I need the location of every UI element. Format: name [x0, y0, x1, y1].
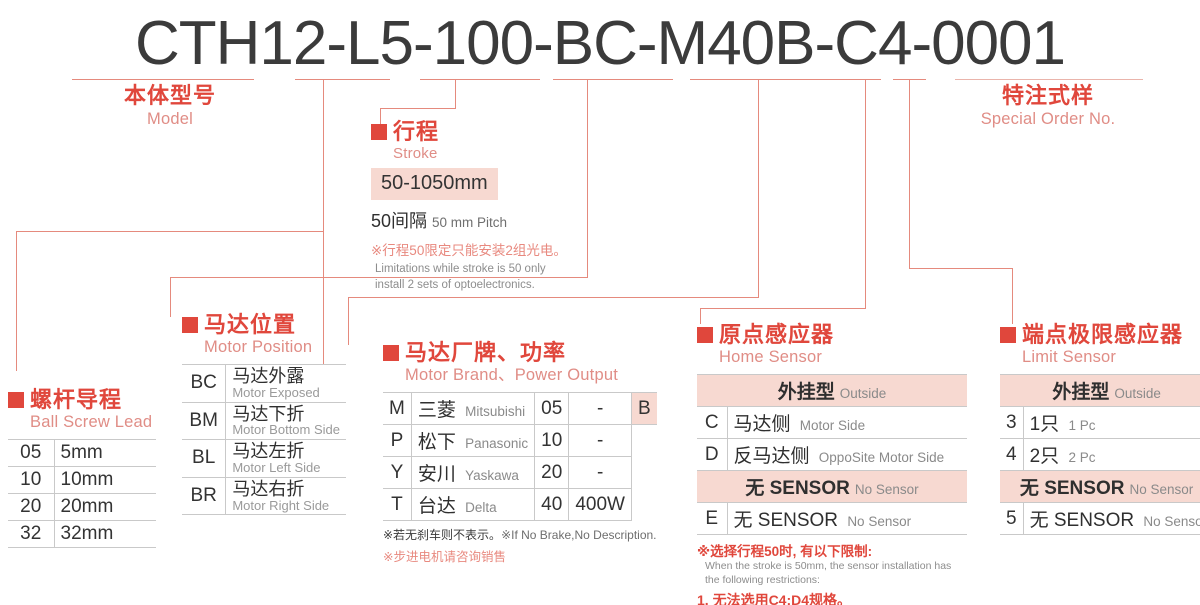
bullet-square-icon [182, 317, 198, 333]
motor-brand-heading: 马达厂牌、功率 [383, 341, 657, 364]
table-row: 4 2只 2 Pc [1000, 439, 1200, 471]
table-row: T 台达 Delta 40 400W [383, 489, 657, 521]
leader-elbow-limit-sensor-horizontal [909, 268, 1013, 269]
motor-position-en-3: Motor Right Side [232, 499, 340, 513]
limit-sensor-table: 外挂型Outside 3 1只 1 Pc 4 2只 2 Pc [1000, 374, 1200, 535]
leader-elbow-motor-position-vertical [170, 277, 171, 317]
limit-sensor-title-en: Limit Sensor [1022, 348, 1200, 367]
special-order-title-en: Special Order No. [948, 110, 1148, 129]
lead-code-1: 10 [8, 467, 54, 494]
bullet-square-icon [1000, 327, 1016, 343]
lead-code-0: 05 [8, 440, 54, 467]
table-row: BC 马达外露 Motor Exposed [182, 365, 346, 403]
table-row: P 松下 Panasonic 10 - [383, 425, 657, 457]
model-title-cn: 本体型号 [110, 84, 230, 107]
home-sensor-title-en: Home Sensor [719, 348, 975, 367]
home-sensor-band-outside: 外挂型Outside [697, 375, 967, 407]
motor-brand-en-3: Delta [465, 500, 497, 515]
motor-power-value-1: - [569, 425, 632, 457]
code-dash-6: - [911, 9, 931, 78]
leader-elbow-motor-brand-horizontal [348, 297, 759, 298]
leader-bar-special-order [955, 79, 1143, 80]
stroke-range-chip: 50-1050mm [371, 168, 498, 200]
limit-sensor-cn-1: 2只 [1030, 446, 1060, 467]
motor-power-code-1: 10 [535, 425, 569, 457]
motor-brake-code-1 [631, 425, 656, 457]
motor-brake-code-2 [631, 457, 656, 489]
motor-brand-code-1: P [383, 425, 411, 457]
motor-position-cn-3: 马达右折 [232, 480, 340, 499]
code-dash-4: - [637, 9, 657, 78]
leader-elbow-lead-vertical [16, 231, 17, 371]
limit-sensor-value-2: 无 SENSOR No Sensor [1023, 503, 1200, 535]
lead-value-1: 10mm [54, 467, 156, 494]
leader-drop-motor-brand [758, 79, 759, 298]
leader-bar-motor-brand [690, 79, 872, 80]
motor-brand-code-0: M [383, 393, 411, 425]
lead-value-0: 5mm [54, 440, 156, 467]
home-sensor-note-head-cn: ※选择行程50时, 有以下限制: [697, 540, 975, 560]
motor-brand-cn-0: 三菱 [418, 400, 456, 421]
motor-brand-cn-3: 台达 [418, 496, 456, 517]
limit-sensor-band-nosensor-en: No Sensor [1129, 482, 1193, 497]
table-row: 3 1只 1 Pc [1000, 407, 1200, 439]
home-sensor-band-outside-en: Outside [840, 386, 887, 401]
motor-position-title-en: Motor Position [204, 338, 346, 357]
home-sensor-note-head-en-line2: the following restrictions: [705, 574, 975, 588]
home-sensor-code-2: E [697, 503, 727, 535]
motor-position-cn-0: 马达外露 [232, 367, 340, 386]
motor-position-cn-2: 马达左折 [232, 442, 340, 461]
table-row: Y 安川 Yaskawa 20 - [383, 457, 657, 489]
limit-sensor-title-cn: 端点极限感应器 [1022, 323, 1183, 346]
bullet-square-icon [383, 345, 399, 361]
stroke-note-en-line1: Limitations while stroke is 50 only [375, 262, 567, 278]
leader-elbow-lead-horizontal [16, 231, 324, 232]
motor-position-title-cn: 马达位置 [204, 313, 296, 336]
code-dash-2: - [413, 9, 433, 78]
code-segment-lead: L5 [346, 9, 413, 78]
table-row: 10 10mm [8, 467, 156, 494]
leader-drop-limit-sensor [909, 79, 910, 269]
leader-elbow-home-sensor-vertical [700, 308, 701, 324]
lead-code-3: 32 [8, 521, 54, 548]
home-sensor-value-1: 反马达侧 OppoSite Motor Side [727, 439, 967, 471]
motor-power-value-2: - [569, 457, 632, 489]
limit-sensor-code-2: 5 [1000, 503, 1023, 535]
motor-position-code-3: BR [182, 477, 226, 515]
table-row: 32 32mm [8, 521, 156, 548]
stroke-heading: 行程 [371, 120, 567, 143]
code-dash-3: - [533, 9, 553, 78]
motor-position-value-3: 马达右折 Motor Right Side [226, 477, 346, 515]
motor-brake-code-3 [631, 489, 656, 521]
home-sensor-heading: 原点感应器 [697, 323, 975, 346]
home-sensor-value-2: 无 SENSOR No Sensor [727, 503, 967, 535]
code-segment-motor-brand: M40B [657, 9, 815, 78]
limit-sensor-code-1: 4 [1000, 439, 1023, 471]
motor-position-code-0: BC [182, 365, 226, 403]
motor-brand-note-cn: ※若无刹车则不表示。 [383, 528, 501, 542]
motor-position-code-2: BL [182, 440, 226, 478]
table-row: 5 无 SENSOR No Sensor [1000, 503, 1200, 535]
limit-sensor-band-outside-cn: 外挂型 [1052, 382, 1109, 403]
motor-position-value-0: 马达外露 Motor Exposed [226, 365, 346, 403]
motor-brand-cn-2: 安川 [418, 464, 456, 485]
motor-position-cn-1: 马达下折 [232, 405, 340, 424]
stroke-note-cn: ※行程50限定只能安装2组光电。 [371, 239, 567, 259]
home-sensor-band-nosensor-en: No Sensor [855, 482, 919, 497]
limit-sensor-en-1: 2 Pc [1068, 450, 1095, 465]
motor-power-code-0: 05 [535, 393, 569, 425]
section-ball-screw-lead: 螺杆导程 Ball Screw Lead 05 5mm 10 10mm 20 2… [8, 388, 156, 548]
limit-sensor-heading: 端点极限感应器 [1000, 323, 1200, 346]
stroke-pitch-en: 50 mm Pitch [432, 215, 507, 230]
code-dash-5: - [815, 9, 835, 78]
home-sensor-value-0: 马达侧 Motor Side [727, 407, 967, 439]
bullet-square-icon [8, 392, 24, 408]
stroke-title-cn: 行程 [393, 120, 439, 143]
stroke-pitch-cn: 50间隔 [371, 211, 427, 231]
table-row: D 反马达侧 OppoSite Motor Side [697, 439, 967, 471]
home-sensor-band-outside-cn: 外挂型 [778, 382, 835, 403]
motor-brand-title-en: Motor Brand、Power Output [405, 366, 657, 385]
leader-bar-model [72, 79, 254, 80]
limit-sensor-value-0: 1只 1 Pc [1023, 407, 1200, 439]
motor-position-value-2: 马达左折 Motor Left Side [226, 440, 346, 478]
home-sensor-note-item1-cn: 1. 无法选用C4;D4规格。 [697, 590, 975, 605]
stroke-title-en: Stroke [393, 145, 567, 162]
code-segment-sensors: C4 [834, 9, 911, 78]
ball-screw-lead-title-cn: 螺杆导程 [30, 388, 122, 411]
home-sensor-en-0: Motor Side [800, 418, 865, 433]
motor-brand-value-2: 安川 Yaskawa [411, 457, 534, 489]
motor-brand-value-3: 台达 Delta [411, 489, 534, 521]
lead-value-2: 20mm [54, 494, 156, 521]
section-home-sensor: 原点感应器 Home Sensor 外挂型Outside C 马达侧 Motor… [697, 323, 975, 605]
home-sensor-band-nosensor-cell: 无 SENSORNo Sensor [697, 471, 967, 503]
section-model: 本体型号 Model [110, 84, 230, 129]
motor-brand-en-1: Panasonic [465, 436, 528, 451]
motor-brand-value-1: 松下 Panasonic [411, 425, 534, 457]
motor-brand-note-sales: ※步进电机请咨询销售 [383, 546, 657, 565]
section-limit-sensor: 端点极限感应器 Limit Sensor 外挂型Outside 3 1只 1 P… [1000, 323, 1200, 535]
stroke-pitch: 50间隔50 mm Pitch [371, 207, 567, 233]
home-sensor-en-1: OppoSite Motor Side [819, 450, 944, 465]
leader-bar-stroke [420, 79, 540, 80]
home-sensor-title-cn: 原点感应器 [719, 323, 834, 346]
table-row: E 无 SENSOR No Sensor [697, 503, 967, 535]
limit-sensor-band-nosensor-cell: 无 SENSORNo Sensor [1000, 471, 1200, 503]
ball-screw-lead-heading: 螺杆导程 [8, 388, 156, 411]
limit-sensor-band-nosensor-cn: 无 SENSOR [1020, 478, 1125, 499]
home-sensor-code-0: C [697, 407, 727, 439]
motor-position-en-2: Motor Left Side [232, 461, 340, 475]
table-row: 05 5mm [8, 440, 156, 467]
leader-drop-home-sensor [865, 79, 866, 309]
motor-position-value-1: 马达下折 Motor Bottom Side [226, 402, 346, 440]
leader-drop-stroke [455, 79, 456, 109]
product-code-spec-diagram: CTH12-L5-100-BC-M40B-C4-0001 本体型号 Model … [0, 0, 1200, 605]
limit-sensor-band-nosensor: 无 SENSORNo Sensor [1000, 471, 1200, 503]
lead-value-3: 32mm [54, 521, 156, 548]
product-code-headline: CTH12-L5-100-BC-M40B-C4-0001 [0, 8, 1200, 79]
section-stroke: 行程 Stroke 50-1050mm 50间隔50 mm Pitch ※行程5… [371, 120, 567, 293]
motor-brand-en-2: Yaskawa [465, 468, 519, 483]
lead-code-2: 20 [8, 494, 54, 521]
table-row: BL 马达左折 Motor Left Side [182, 440, 346, 478]
home-sensor-table: 外挂型Outside C 马达侧 Motor Side D 反马达侧 OppoS… [697, 374, 967, 535]
motor-brand-en-0: Mitsubishi [465, 404, 525, 419]
section-motor-brand: 马达厂牌、功率 Motor Brand、Power Output M 三菱 Mi… [383, 341, 657, 565]
section-motor-position: 马达位置 Motor Position BC 马达外露 Motor Expose… [182, 313, 346, 515]
code-segment-stroke: 100 [433, 9, 533, 78]
motor-brake-code-0: B [631, 393, 656, 425]
limit-sensor-cn-0: 1只 [1030, 414, 1060, 435]
leader-drop-motor-position [587, 79, 588, 278]
leader-elbow-limit-sensor-vertical [1012, 268, 1013, 324]
motor-brand-table: M 三菱 Mitsubishi 05 - B P 松下 Panasonic 10 [383, 392, 657, 521]
section-special-order: 特注式样 Special Order No. [948, 84, 1148, 129]
motor-position-heading: 马达位置 [182, 313, 346, 336]
code-dash-1: - [326, 9, 346, 78]
home-sensor-cn-0: 马达侧 [734, 414, 791, 435]
motor-brand-title-cn: 马达厂牌、功率 [405, 341, 566, 364]
limit-sensor-en-2: No Sensor [1143, 514, 1200, 529]
ball-screw-lead-table: 05 5mm 10 10mm 20 20mm 32 32mm [8, 439, 156, 548]
home-sensor-code-1: D [697, 439, 727, 471]
motor-power-value-3: 400W [569, 489, 632, 521]
limit-sensor-cn-2: 无 SENSOR [1030, 510, 1135, 531]
table-row: C 马达侧 Motor Side [697, 407, 967, 439]
special-order-title-cn: 特注式样 [948, 84, 1148, 107]
home-sensor-en-2: No Sensor [847, 514, 911, 529]
limit-sensor-value-1: 2只 2 Pc [1023, 439, 1200, 471]
leader-elbow-stroke-horizontal [380, 108, 456, 109]
model-title-en: Model [110, 110, 230, 129]
limit-sensor-en-0: 1 Pc [1068, 418, 1095, 433]
table-row: BM 马达下折 Motor Bottom Side [182, 402, 346, 440]
bullet-square-icon [371, 124, 387, 140]
leader-bar-motor-position [553, 79, 673, 80]
home-sensor-band-outside-cell: 外挂型Outside [697, 375, 967, 407]
limit-sensor-band-outside-en: Outside [1114, 386, 1161, 401]
motor-position-en-1: Motor Bottom Side [232, 423, 340, 437]
motor-power-code-3: 40 [535, 489, 569, 521]
home-sensor-cn-1: 反马达侧 [734, 446, 810, 467]
table-row: BR 马达右折 Motor Right Side [182, 477, 346, 515]
leader-elbow-home-sensor-horizontal [700, 308, 866, 309]
code-segment-special-order: 0001 [931, 9, 1065, 78]
limit-sensor-band-outside-cell: 外挂型Outside [1000, 375, 1200, 407]
table-row: 20 20mm [8, 494, 156, 521]
bullet-square-icon [697, 327, 713, 343]
table-row: M 三菱 Mitsubishi 05 - B [383, 393, 657, 425]
motor-position-table: BC 马达外露 Motor Exposed BM 马达下折 Motor Bott… [182, 364, 346, 515]
code-segment-model: CTH12 [135, 9, 326, 78]
motor-power-value-0: - [569, 393, 632, 425]
home-sensor-band-nosensor: 无 SENSORNo Sensor [697, 471, 967, 503]
stroke-note-en-line2: install 2 sets of optoelectronics. [375, 278, 567, 294]
home-sensor-cn-2: 无 SENSOR [734, 510, 839, 531]
limit-sensor-band-outside: 外挂型Outside [1000, 375, 1200, 407]
home-sensor-band-nosensor-cn: 无 SENSOR [745, 478, 850, 499]
leader-bar-lead [295, 79, 390, 80]
motor-position-en-0: Motor Exposed [232, 386, 340, 400]
motor-brand-value-0: 三菱 Mitsubishi [411, 393, 534, 425]
limit-sensor-code-0: 3 [1000, 407, 1023, 439]
motor-brand-code-2: Y [383, 457, 411, 489]
ball-screw-lead-title-en: Ball Screw Lead [30, 413, 156, 432]
motor-power-code-2: 20 [535, 457, 569, 489]
motor-brand-note-brake: ※若无刹车则不表示。※If No Brake,No Description. [383, 526, 657, 543]
leader-elbow-motor-brand-vertical [348, 297, 349, 345]
home-sensor-note-head-en-line1: When the stroke is 50mm, the sensor inst… [705, 560, 975, 574]
motor-brand-cn-1: 松下 [418, 432, 456, 453]
motor-brand-note-en: ※If No Brake,No Description. [501, 528, 656, 542]
code-segment-motor-position: BC [553, 9, 637, 78]
motor-brand-code-3: T [383, 489, 411, 521]
motor-position-code-1: BM [182, 402, 226, 440]
